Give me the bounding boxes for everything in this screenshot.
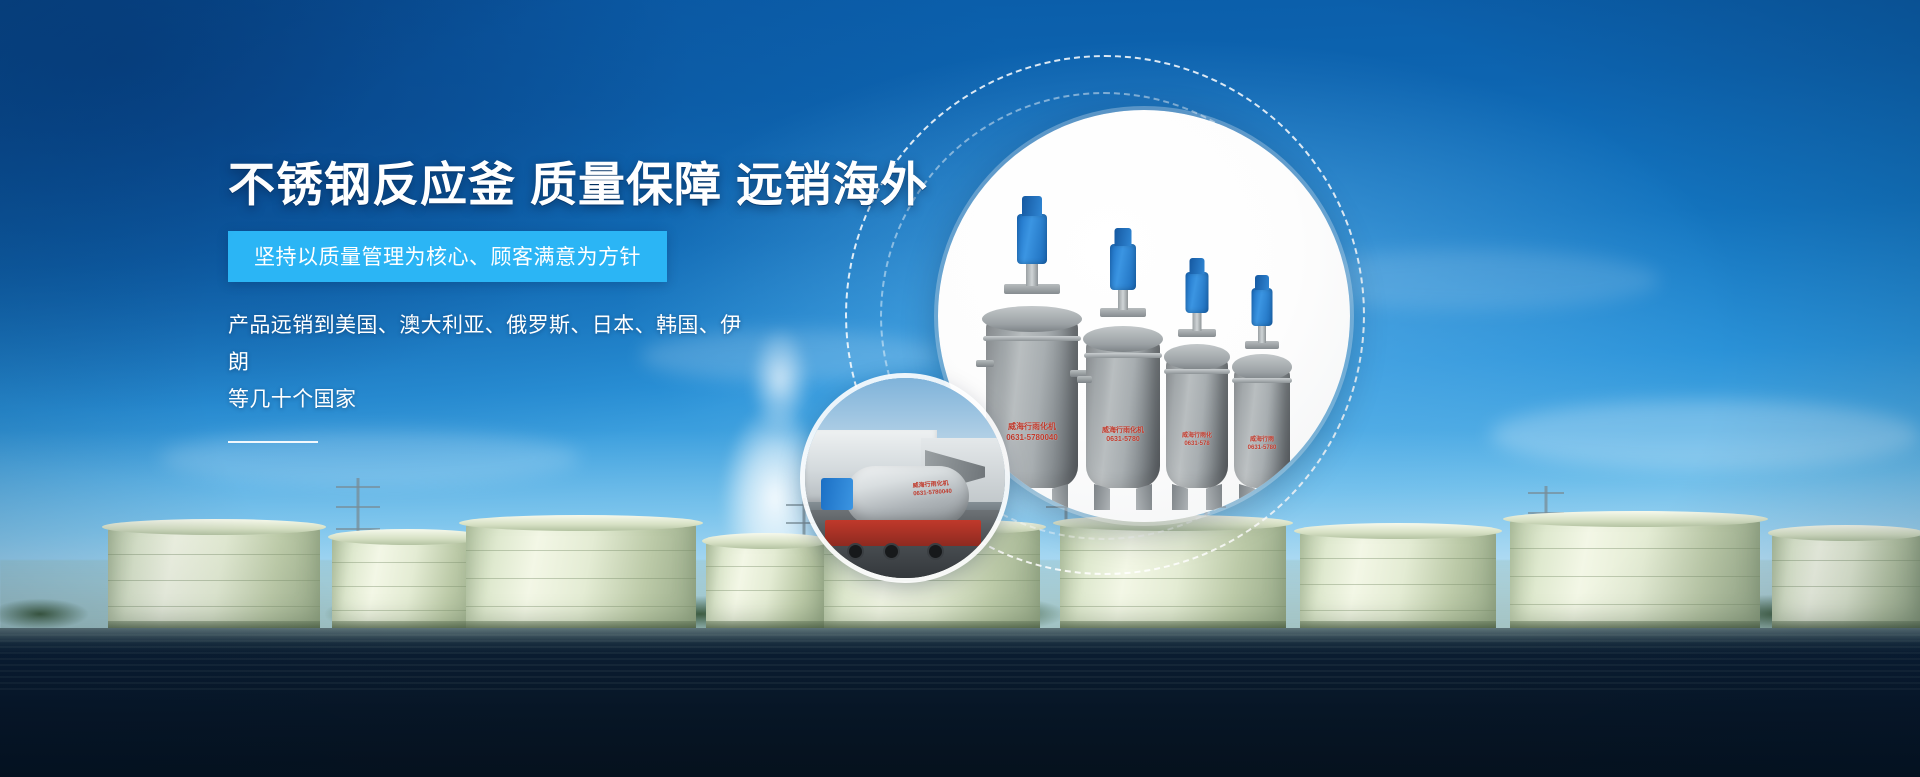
banner-subtitle-highlight: 坚持以质量管理为核心、顾客满意为方针 [228,231,667,282]
truck-wheel [849,545,862,558]
truck-wheel [885,545,898,558]
reactor-label: 威海行雨化 0631-578 [1182,432,1212,448]
decorative-rule [228,441,318,443]
storage-tank [332,538,482,630]
truck-wheel [929,545,942,558]
storage-tank [466,524,696,630]
factory-reactor-motor [821,478,853,510]
banner-body-text: 产品远销到美国、澳大利亚、俄罗斯、日本、韩国、伊朗 等几十个国家 [228,308,748,418]
reactor-vessel: 威海行雨化机 0631-5780 [1086,338,1160,488]
banner-headline: 不锈钢反应釜 质量保障 远销海外 [228,160,948,209]
reactor-vessel: 威海行雨 0631-5780 [1234,366,1290,488]
factory-truck-bed [825,520,981,546]
banner-text-block: 不锈钢反应釜 质量保障 远销海外 坚持以质量管理为核心、顾客满意为方针 产品远销… [228,160,948,443]
reactor-vessel: 威海行雨化 0631-578 [1166,356,1228,488]
reactor-label: 威海行雨化机 0631-5780 [1102,426,1144,445]
hero-banner: 威海行雨化机 0631-5780040 威海行雨化机 0631-5780 [0,0,1920,777]
storage-tank [1772,534,1920,630]
storage-tank [108,528,320,630]
reactor-label: 威海行雨 0631-5780 [1248,436,1277,452]
storage-tank [1510,520,1760,630]
body-line-2: 等几十个国家 [228,382,748,419]
water-reflection [0,634,1920,694]
storage-tank [1300,532,1496,630]
factory-tank-label: 威海行雨化机 0631-5780040 [913,481,953,499]
reactor-label: 威海行雨化机 0631-5780040 [1006,422,1058,444]
body-line-1: 产品远销到美国、澳大利亚、俄罗斯、日本、韩国、伊朗 [228,308,748,382]
